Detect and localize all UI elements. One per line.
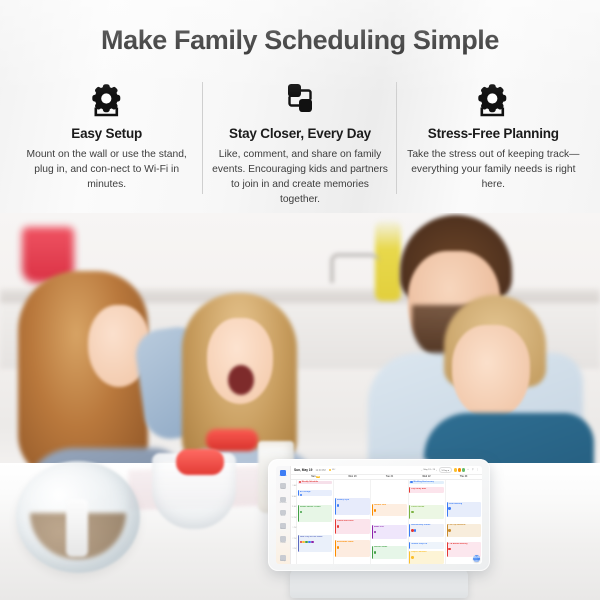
sidebar-item-meals[interactable]: Meals	[280, 510, 286, 518]
gear-stand-icon	[405, 80, 582, 120]
all-day-event[interactable]: Wedding Anniversary	[409, 481, 444, 484]
day-date: 22	[428, 476, 431, 478]
calendar-event[interactable]: Team Meeting9:00 AM - 10:00 AM	[447, 502, 482, 517]
sidebar-item-calendar[interactable]: Calendar	[280, 470, 287, 478]
plus-icon: plus-icon	[472, 555, 481, 563]
calendar-main: Sun, May 19 12:30 PM 65° ‹ May 19 - 25 ›…	[291, 466, 482, 564]
event-title: Pay Utility Bills	[411, 488, 443, 490]
tablet-stand	[290, 568, 468, 598]
day-header-mon[interactable]: Mon 20	[334, 475, 371, 479]
day-header-wed[interactable]: Wed 22	[408, 475, 445, 479]
day-column[interactable]: Weekly ScheduleArt GrungeHealth Soccer C…	[297, 480, 334, 564]
sun-icon	[329, 469, 332, 472]
event-color-dot	[410, 481, 412, 483]
sidebar-item-label: Photos	[280, 543, 285, 545]
attendee-dot	[411, 556, 413, 558]
event-attendees	[337, 546, 369, 548]
calendar-event[interactable]: Art Grunge	[298, 490, 333, 496]
event-title: Wedding Anniversary	[413, 481, 433, 483]
day-label: Sun	[311, 476, 315, 478]
attendee-dot	[337, 546, 339, 548]
day-header-sun[interactable]: Sun 19	[297, 475, 334, 479]
weather-widget[interactable]: 65°	[329, 469, 336, 472]
calendar-event[interactable]: Weekly Gym8:00 AM - 9:30 AM	[335, 498, 370, 515]
event-attendees	[448, 529, 480, 531]
current-date: Sun, May 19	[294, 468, 312, 472]
attendee-dot	[374, 531, 376, 533]
sidebar-item-label: Meals	[281, 516, 286, 518]
event-title: School Drop-Off	[411, 543, 443, 545]
attendee-dot	[311, 541, 313, 543]
fishbowl-coral	[66, 499, 88, 557]
date-range-nav[interactable]: ‹ May 19 - 25 ›	[422, 469, 438, 472]
son-face	[452, 325, 530, 419]
day-label: Thu	[460, 476, 464, 478]
feature-description: Take the stress out of keeping track—eve…	[405, 148, 582, 193]
all-day-event[interactable]: Weekly Schedule	[298, 481, 333, 484]
chevron-right-icon[interactable]: ›	[436, 469, 437, 472]
day-date-badge: 19	[316, 476, 319, 478]
event-attendees	[411, 511, 443, 513]
sidebar-item-label: Calendar	[280, 476, 287, 478]
calendar-event[interactable]: Soccer Game3:00 PM - 4:30 PM	[372, 546, 407, 559]
event-attendees	[448, 507, 480, 509]
chevron-down-icon: ▾	[448, 470, 449, 472]
calendar-event[interactable]: Anniversary Dinner12:30 PM - 2:00 PM	[409, 524, 444, 537]
attendee-dot	[300, 511, 302, 513]
attendee-dot	[337, 525, 339, 527]
sidebar-item-label: Schedule	[279, 503, 286, 505]
weather-temp: 65°	[332, 469, 335, 471]
calendar-event[interactable]: Dentist Visit9:30 AM - 10:30 AM	[372, 504, 407, 517]
day-date: 20	[354, 476, 357, 478]
day-column[interactable]: Team Meeting9:00 AM - 10:00 AMPick Up Me…	[446, 480, 482, 564]
sidebar-item-label: Settings	[280, 561, 286, 563]
day-label: Tue	[386, 476, 390, 478]
event-attendees	[374, 551, 406, 553]
gear-stand-icon	[18, 80, 195, 120]
chevron-left-icon[interactable]: ‹	[422, 469, 423, 472]
day-columns[interactable]: Weekly ScheduleArt GrungeHealth Soccer C…	[297, 480, 482, 564]
day-column[interactable]: Weekly Gym8:00 AM - 9:30 AMLunch with Er…	[334, 480, 371, 564]
day-date: 21	[391, 476, 394, 478]
strawberry-plate	[206, 429, 258, 451]
feature-list: Easy Setup Mount on the wall or use the …	[10, 80, 590, 208]
more-icon[interactable]: ⋮	[476, 469, 479, 472]
promo-banner: Make Family Scheduling Simple Easy Setup…	[0, 0, 600, 213]
attendee-dot	[300, 494, 302, 496]
plus-icon[interactable]: +	[467, 469, 470, 472]
calendar-event[interactable]: Health Soccer Centre9:00 AM - 11:00 AM	[298, 505, 333, 522]
calendar-event[interactable]: Pay Utility Bills	[409, 487, 444, 494]
day-date: 23	[465, 476, 468, 478]
attendee-dot	[448, 507, 450, 509]
search-icon[interactable]: ⚲	[472, 469, 475, 472]
event-title: Weekly Schedule	[302, 481, 318, 483]
page-title: Make Family Scheduling Simple	[0, 25, 600, 56]
event-attendees	[448, 548, 480, 550]
tablet-screen[interactable]: Calendar Lists Schedule Meals Memos Phot…	[276, 466, 482, 564]
calendar-event[interactable]: Diaper Jackson4:00 PM - 5:00 PM	[409, 551, 444, 564]
calendar-event[interactable]: Basketball Game2:00 PM - 4:00 PM	[335, 540, 370, 557]
faucet-prop	[330, 253, 380, 283]
calendar-toolbar: Sun, May 19 12:30 PM 65° ‹ May 19 - 25 ›…	[291, 466, 482, 475]
sidebar-item-settings[interactable]: Settings	[280, 555, 286, 564]
attendee-dot	[411, 511, 413, 513]
feature-title: Stay Closer, Every Day	[211, 126, 388, 141]
attendee-dot	[448, 529, 450, 531]
event-attendees	[300, 541, 332, 543]
attendee-dot	[414, 529, 416, 531]
feature-stress-free-planning: Stress-Free Planning Take the stress out…	[397, 80, 590, 193]
calendar-event[interactable]: School Drop-Off	[409, 542, 444, 549]
sidebar-item-memos[interactable]: Memos	[280, 523, 286, 531]
event-attendees	[337, 525, 369, 527]
family-calendar-tablet: Calendar Lists Schedule Meals Memos Phot…	[268, 459, 490, 571]
current-time: 12:30 PM	[315, 469, 325, 472]
event-attendees	[300, 511, 332, 513]
sidebar-item-label: Memos	[280, 529, 286, 531]
day-label: Mon	[348, 476, 353, 478]
sidebar-item-label: Lists	[281, 489, 284, 491]
event-attendees	[374, 509, 406, 511]
day-header-tue[interactable]: Tue 21	[371, 475, 408, 479]
event-attendees	[411, 529, 443, 531]
sidebar-item-photos[interactable]: Photos	[280, 536, 286, 544]
daughter-mouth	[228, 365, 254, 395]
attendee-dot	[374, 509, 376, 511]
toolbar-right-group: ‹ May 19 - 25 › 5 Day ▾ + ⚲	[422, 467, 479, 473]
feature-easy-setup: Easy Setup Mount on the wall or use the …	[10, 80, 203, 193]
calendar-event[interactable]: Math Test12:00 PM - 1:00 PM	[372, 525, 407, 538]
avatar[interactable]	[458, 468, 461, 471]
view-selector-label: 5 Day	[442, 470, 448, 472]
calendar-event[interactable]: Meal Prep for the Week1:00 PM - 2:30 PM	[298, 535, 333, 552]
day-header-thu[interactable]: Thu 23	[445, 475, 482, 479]
strawberry-topping	[176, 449, 224, 475]
feature-stay-closer: Stay Closer, Every Day Like, comment, an…	[203, 80, 396, 208]
calendar-event[interactable]: Lunch with Erica11:30 AM - 1:00 PM	[335, 519, 370, 533]
calendar-event[interactable]: Piano Recital10:00 AM - 11:30 AM	[409, 505, 444, 518]
attendee-dot	[374, 551, 376, 553]
feature-title: Easy Setup	[18, 126, 195, 141]
sidebar-item-schedule[interactable]: Schedule	[279, 497, 286, 505]
date-range-label: May 19 - 25	[424, 469, 436, 471]
feature-description: Mount on the wall or use the stand, plug…	[18, 148, 195, 193]
calendar-grid[interactable]: 9 AM10 AM11 AM12 PM1 PM2 PM3 PM Weekly S…	[291, 480, 482, 564]
attendee-dot	[337, 504, 339, 506]
event-attendees	[337, 504, 369, 506]
add-event-fab[interactable]: plus-icon	[473, 555, 480, 562]
member-avatars[interactable]	[454, 468, 466, 471]
attendee-dot	[448, 548, 450, 550]
feature-title: Stress-Free Planning	[405, 126, 582, 141]
app-sidebar[interactable]: Calendar Lists Schedule Meals Memos Phot…	[276, 466, 291, 564]
feature-description: Like, comment, and share on family event…	[211, 148, 388, 208]
day-label: Wed	[422, 476, 427, 478]
sidebar-item-lists[interactable]: Lists	[280, 483, 286, 491]
event-attendees	[300, 494, 332, 496]
view-selector[interactable]: 5 Day ▾	[439, 467, 452, 473]
share-nodes-icon	[211, 80, 388, 120]
day-column[interactable]: Wedding AnniversaryPay Utility BillsPian…	[409, 480, 446, 564]
event-color-dot	[299, 481, 301, 483]
calendar-event[interactable]: Pick Up Medicine12:00 PM - 1:00 PM	[447, 524, 482, 537]
day-column[interactable]: Dentist Visit9:30 AM - 10:30 AMMath Test…	[371, 480, 408, 564]
avatar[interactable]	[462, 468, 465, 471]
event-attendees	[374, 531, 406, 533]
avatar[interactable]	[454, 468, 457, 471]
event-attendees	[411, 556, 443, 558]
